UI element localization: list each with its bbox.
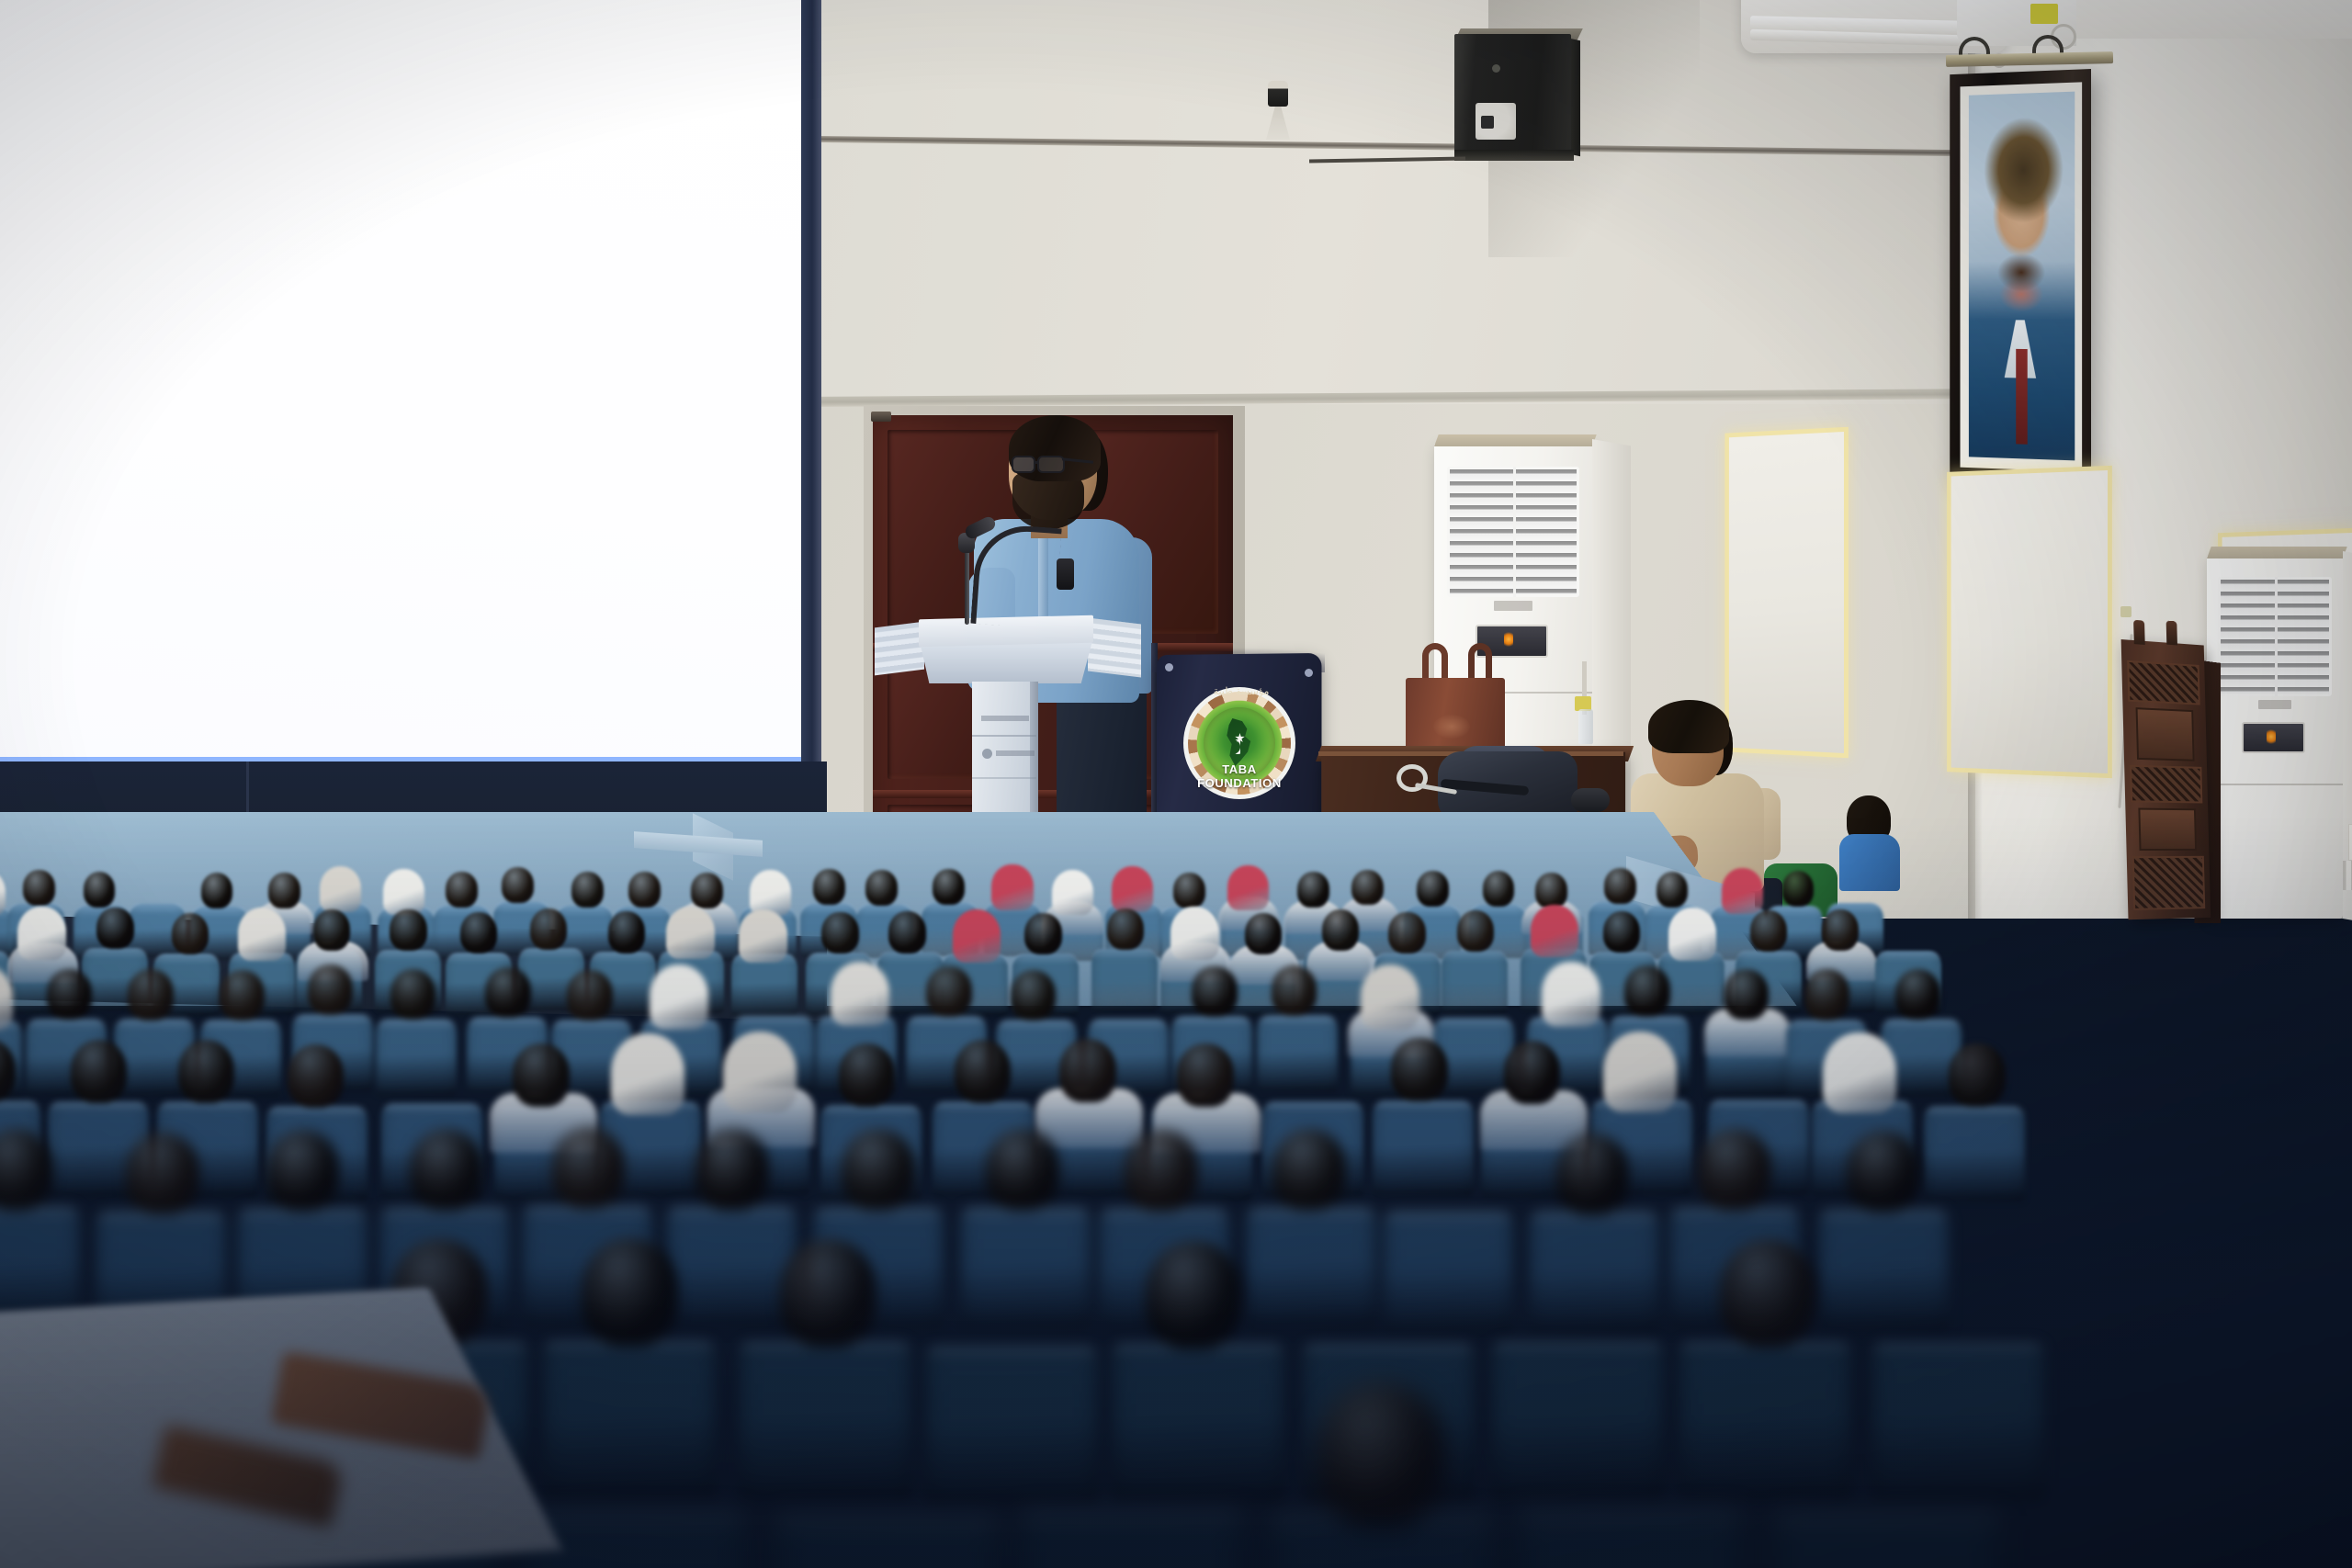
eyeglasses-icon xyxy=(1037,456,1065,473)
ac-body-seam xyxy=(2207,784,2343,785)
speaker-screw xyxy=(1492,64,1500,73)
podium-inscription xyxy=(996,750,1035,756)
auditorium-seat[interactable] xyxy=(1771,1515,2001,1568)
ac-top-cover xyxy=(1434,434,1597,446)
auditorium-seat[interactable] xyxy=(772,1517,1001,1568)
audience-member-head xyxy=(1317,1382,1445,1527)
projection-screen-border xyxy=(801,0,821,762)
door-hinge xyxy=(871,412,891,422)
portrait-tie xyxy=(2016,349,2028,445)
ac-warning-sticker xyxy=(2030,4,2058,24)
water-bottle xyxy=(1578,709,1593,744)
ac-grill-divider xyxy=(2275,577,2278,697)
podium-seam xyxy=(972,777,1036,779)
panel-lattice xyxy=(2130,765,2202,804)
ceiling-fill xyxy=(2072,0,2352,39)
projection-screen xyxy=(0,0,808,761)
panel-finial xyxy=(2166,621,2177,646)
ac-display-glow xyxy=(2267,729,2276,744)
banner-grommet xyxy=(1305,669,1313,677)
seated-boy-hair xyxy=(1648,700,1729,753)
ac-spec-label xyxy=(2348,824,2352,861)
ac-top-cover xyxy=(2207,547,2347,558)
handheld-microphone-icon xyxy=(1571,788,1610,812)
tote-bag-highlight xyxy=(1433,715,1470,739)
window-left xyxy=(1729,432,1844,753)
panel-solid-inset xyxy=(2136,707,2195,761)
auditorium-seat[interactable] xyxy=(1515,1512,1745,1568)
banner-grommet xyxy=(1165,663,1173,671)
wall-speaker-mount xyxy=(1454,150,1574,161)
panel-finial xyxy=(2133,620,2145,645)
portrait-image xyxy=(1969,92,2075,461)
wall-cable-clip xyxy=(2120,606,2131,617)
ac-display-glow xyxy=(1504,632,1513,647)
podium-logo-icon xyxy=(982,749,992,759)
panel-solid-inset xyxy=(2138,808,2197,852)
standing-air-conditioner-right xyxy=(2207,555,2343,919)
banner-logo-ring-text: TABA FOUNDATION xyxy=(1183,762,1295,790)
podium-right-wing xyxy=(1088,617,1141,677)
eyeglasses-icon xyxy=(1012,456,1035,473)
framed-portrait xyxy=(1950,69,2091,487)
podium-left-wing xyxy=(875,622,924,676)
banner-arabic-text: مؤسسة طيبة xyxy=(1209,685,1273,697)
eyeglasses-bridge xyxy=(1035,461,1039,464)
security-camera-icon xyxy=(1268,81,1288,107)
window-center xyxy=(1951,470,2108,773)
portrait-mat xyxy=(1960,82,2082,471)
ac-grill-divider xyxy=(1513,467,1516,597)
ac-brand-logo xyxy=(1494,601,1532,611)
podium-seam xyxy=(972,735,1036,737)
carved-wood-panel xyxy=(2121,639,2211,919)
panel-lattice xyxy=(2127,660,2199,705)
ac-brand-logo xyxy=(2258,700,2291,709)
auditorium-scene: مؤسسة طيبة TABA FOUNDATION TABA FOUNDATI… xyxy=(0,0,2352,1568)
auditorium-seat[interactable] xyxy=(1016,1512,1246,1568)
podium-inscription xyxy=(981,716,1029,721)
speaker-label-mark xyxy=(1481,116,1494,129)
crescent-icon xyxy=(1226,739,1240,754)
